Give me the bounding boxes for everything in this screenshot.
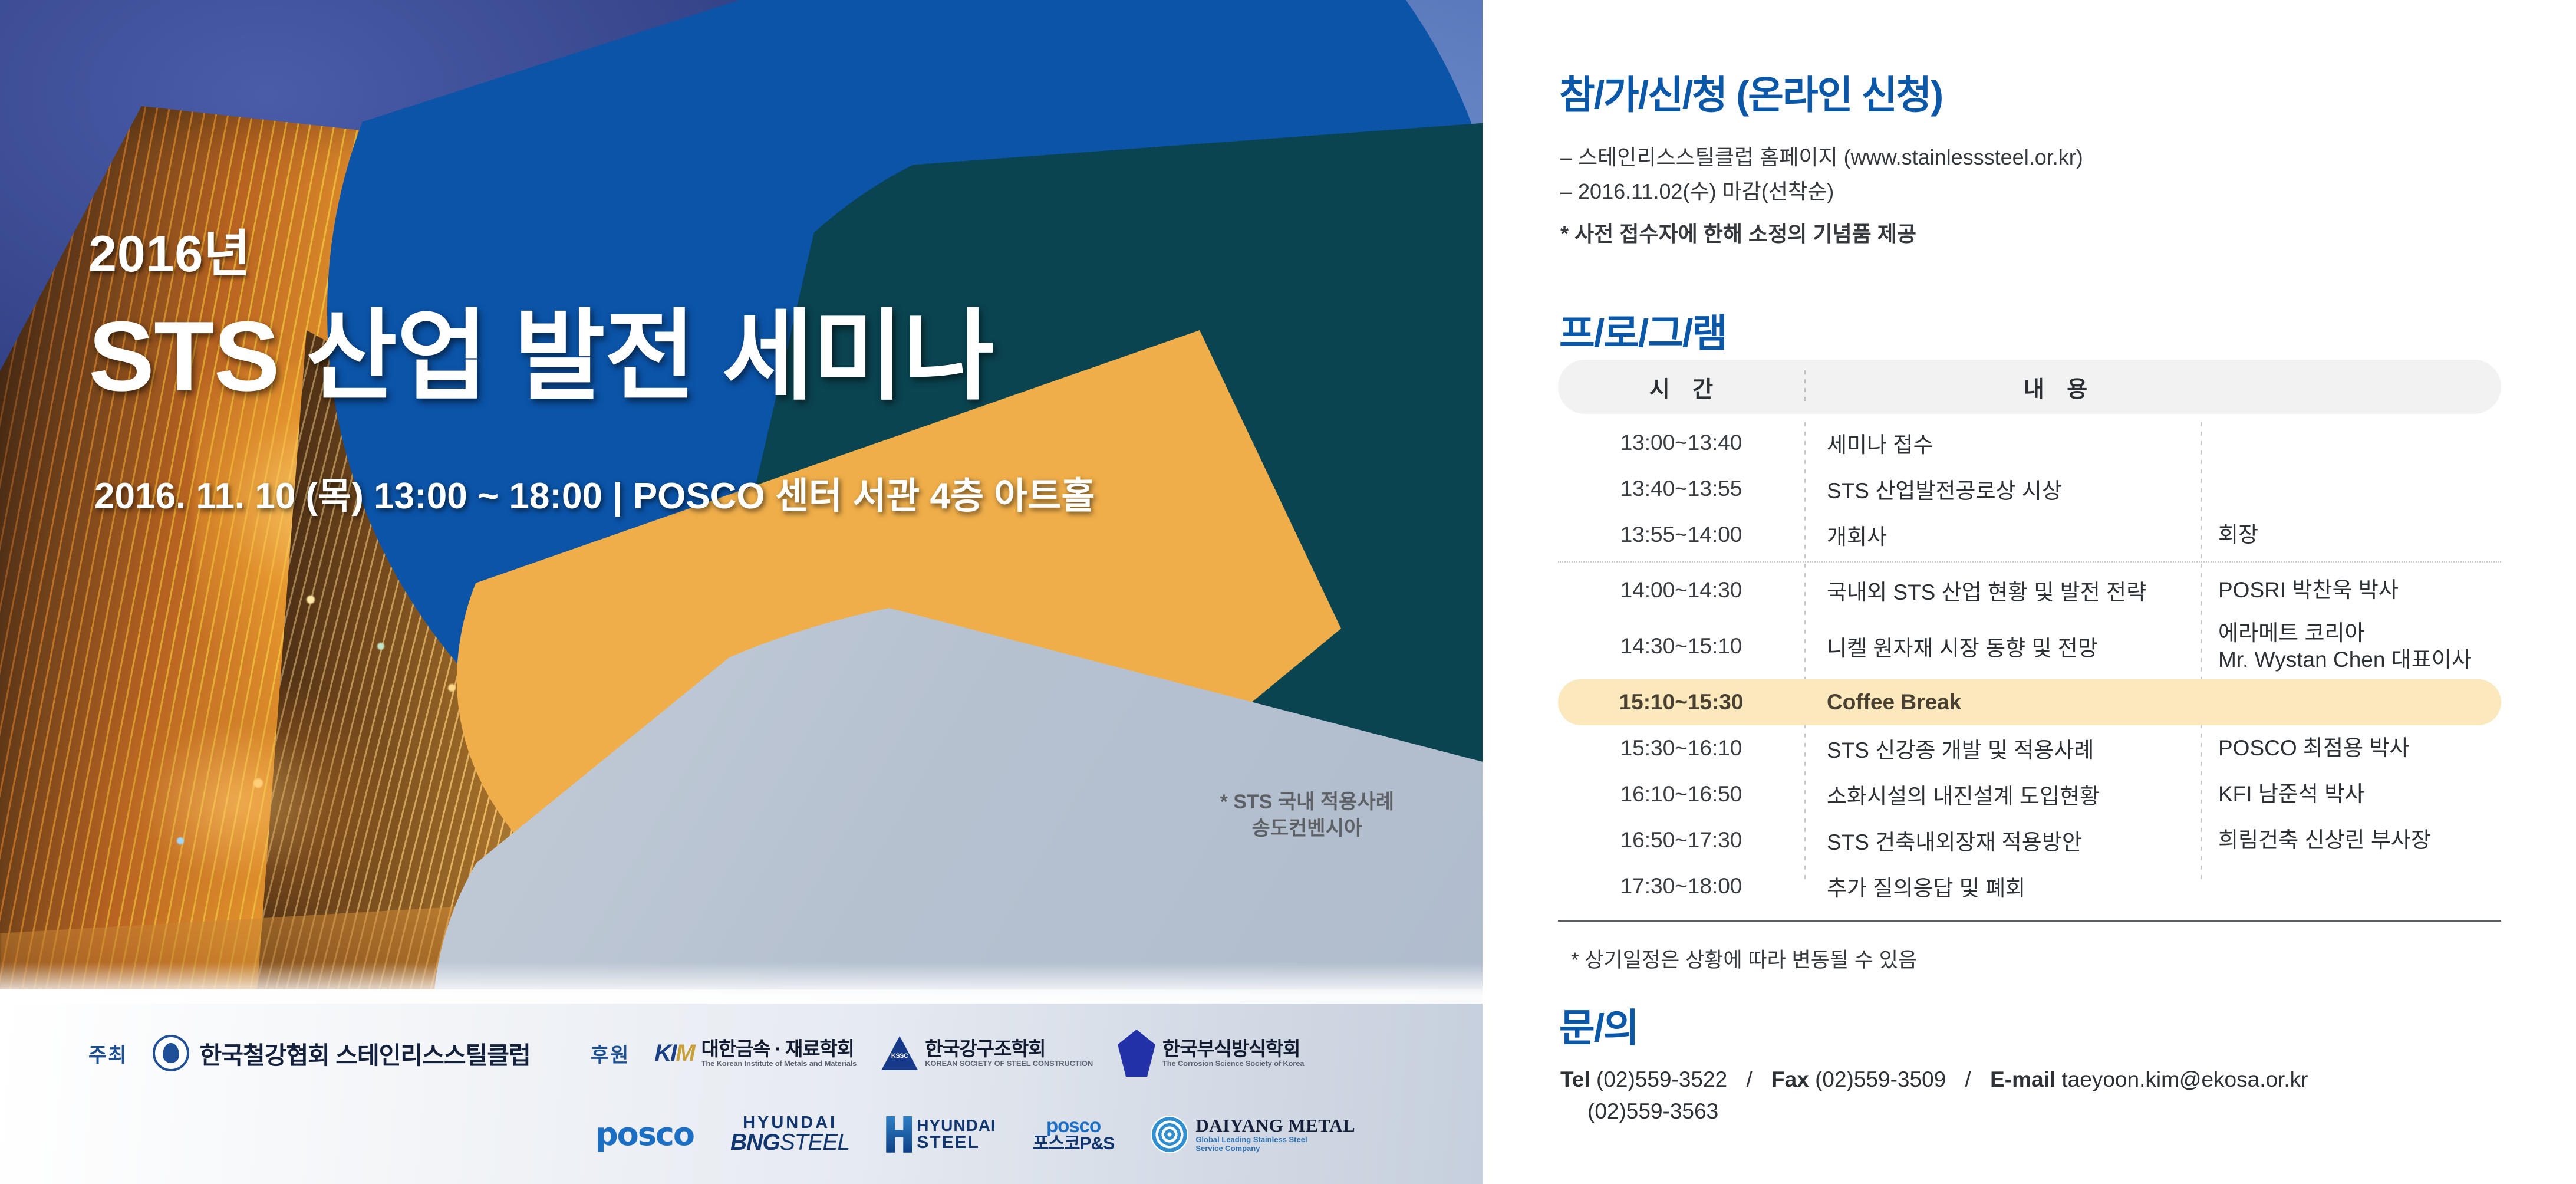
row-content: STS 건축내외장재 적용방안 bbox=[1804, 824, 2199, 856]
logo-hyundai-bng-steel: HYUNDAI BNGSTEEL bbox=[730, 1115, 849, 1153]
posco-pns-line1: posco bbox=[1046, 1116, 1101, 1136]
host-and-societies-row: 주최 한국철강협회 스테인리스스틸클럽 후원 KIM 대한금속 · 재료학회 T… bbox=[88, 1030, 1304, 1077]
apply-heading: 참/가/신/청 (온라인 신청) bbox=[1559, 64, 1942, 120]
table-row: 15:30~16:10 STS 신강종 개발 및 적용사례 POSCO 최점용 … bbox=[1558, 725, 2501, 771]
kosa-seal-icon bbox=[153, 1035, 189, 1071]
fax-label: Fax bbox=[1771, 1067, 1809, 1091]
contact-line-2: (02)559-3563 bbox=[1560, 1099, 2308, 1124]
host-organization: 한국철강협회 스테인리스스틸클럽 bbox=[153, 1035, 531, 1071]
corporate-sponsors-row: posco HYUNDAI BNGSTEEL HYUNDAI STEEL pos… bbox=[595, 1115, 1355, 1153]
contact-block: Tel (02)559-3522 / Fax (02)559-3509 / E-… bbox=[1560, 1067, 2308, 1124]
row-time: 15:30~16:10 bbox=[1558, 736, 1804, 761]
tel-value: (02)559-3522 bbox=[1596, 1067, 1727, 1091]
contact-line-1: Tel (02)559-3522 / Fax (02)559-3509 / E-… bbox=[1560, 1067, 2308, 1092]
details-panel: 참/가/신/청 (온라인 신청) – 스테인리스스틸클럽 홈페이지 (www.s… bbox=[1483, 0, 2576, 1184]
photo-caption: * STS 국내 적용사례 송도컨벤시아 bbox=[1220, 789, 1394, 842]
window-light bbox=[377, 643, 384, 650]
row-time: 14:00~14:30 bbox=[1558, 578, 1804, 603]
society-kssc-name-en: KOREAN SOCIETY OF STEEL CONSTRUCTION bbox=[925, 1060, 1093, 1068]
photo-caption-line-2: 송도컨벤시아 bbox=[1220, 815, 1394, 842]
program-heading: 프/로/그/램 bbox=[1559, 302, 1727, 359]
society-kim-name-en: The Korean Institute of Metals and Mater… bbox=[701, 1060, 857, 1068]
daiyang-target-icon bbox=[1151, 1116, 1188, 1153]
table-row: 16:10~16:50 소화시설의 내진설계 도입현황 KFI 남준석 박사 bbox=[1558, 771, 2501, 817]
logo-daiyang-metal: DAIYANG METAL Global Leading Stainless S… bbox=[1151, 1116, 1355, 1153]
program-footnote: * 상기일정은 상황에 따라 변동될 수 있음 bbox=[1571, 943, 1917, 973]
window-light bbox=[448, 684, 456, 692]
hyundai-steel-line2: STEEL bbox=[917, 1134, 996, 1152]
window-light bbox=[177, 837, 184, 844]
cssk-logo-icon bbox=[1118, 1030, 1155, 1077]
table-row: 16:50~17:30 STS 건축내외장재 적용방안 희림건축 신상린 부사장 bbox=[1558, 817, 2501, 863]
window-light bbox=[307, 596, 315, 604]
plaza-glow bbox=[83, 678, 389, 926]
kssc-logo-icon bbox=[881, 1036, 918, 1070]
row-content: STS 신강종 개발 및 적용사례 bbox=[1804, 732, 2199, 764]
program-table-header: 시 간 내 용 bbox=[1558, 360, 2501, 414]
table-row: 13:00~13:40 세미나 접수 bbox=[1558, 420, 2501, 466]
row-content: STS 산업발전공로상 시상 bbox=[1804, 473, 2199, 505]
row-time: 13:40~13:55 bbox=[1558, 476, 1804, 501]
logo-posco-pns: posco 포스코P&S bbox=[1033, 1116, 1115, 1153]
bng-steel-text: BNGSTEEL bbox=[730, 1132, 849, 1153]
row-speaker: KFI 남준석 박사 bbox=[2199, 781, 2501, 807]
row-time: 16:50~17:30 bbox=[1558, 828, 1804, 853]
society-kim-name-ko: 대한금속 · 재료학회 bbox=[701, 1039, 857, 1060]
row-content: 국내외 STS 산업 현황 및 발전 전략 bbox=[1804, 574, 2199, 606]
year-label: 2016년 bbox=[88, 212, 251, 286]
row-time: 15:10~15:30 bbox=[1558, 690, 1804, 715]
society-kssc: 한국강구조학회 KOREAN SOCIETY OF STEEL CONSTRUC… bbox=[881, 1036, 1093, 1070]
contact-separator-2: / bbox=[1952, 1067, 1984, 1091]
row-content: Coffee Break bbox=[1804, 690, 2199, 715]
row-speaker: POSCO 최점용 박사 bbox=[2199, 735, 2501, 761]
row-time: 17:30~18:00 bbox=[1558, 874, 1804, 899]
row-time: 14:30~15:10 bbox=[1558, 634, 1804, 659]
row-content: 세미나 접수 bbox=[1804, 427, 2199, 459]
column-header-content: 내 용 bbox=[1804, 371, 2501, 403]
posco-wordmark: posco bbox=[595, 1116, 694, 1153]
email-value[interactable]: taeyoon.kim@ekosa.or.kr bbox=[2061, 1067, 2308, 1091]
society-cssk: 한국부식방식학회 The Corrosion Science Society o… bbox=[1118, 1030, 1304, 1077]
row-time: 13:55~14:00 bbox=[1558, 522, 1804, 547]
row-content: 개회사 bbox=[1804, 519, 2199, 551]
logo-hyundai-steel: HYUNDAI STEEL bbox=[886, 1116, 996, 1153]
society-cssk-name-ko: 한국부식방식학회 bbox=[1162, 1039, 1304, 1060]
program-table: 시 간 내 용 13:00~13:40 세미나 접수 13:40~13:55 S… bbox=[1558, 360, 2501, 922]
host-label: 주최 bbox=[88, 1039, 128, 1068]
program-table-body: 13:00~13:40 세미나 접수 13:40~13:55 STS 산업발전공… bbox=[1558, 420, 2501, 909]
poster-title: STS 산업 발전 세미나 bbox=[88, 276, 994, 419]
row-speaker: POSRI 박찬욱 박사 bbox=[2199, 577, 2501, 603]
apply-bullet-website: – 스테인리스스틸클럽 홈페이지 (www.stainlesssteel.or.… bbox=[1560, 140, 2083, 175]
society-kssc-name-ko: 한국강구조학회 bbox=[925, 1039, 1093, 1060]
hyundai-steel-line1: HYUNDAI bbox=[917, 1117, 996, 1134]
row-content: 추가 질의응답 및 폐회 bbox=[1804, 870, 2199, 902]
datetime-venue: 2016. 11. 10 (목) 13:00 ~ 18:00 | POSCO 센… bbox=[94, 466, 1095, 519]
fax-value: (02)559-3509 bbox=[1815, 1067, 1946, 1091]
table-row: 17:30~18:00 추가 질의응답 및 폐회 bbox=[1558, 863, 2501, 909]
section-divider bbox=[1558, 561, 2501, 563]
row-content: 소화시설의 내진설계 도입현황 bbox=[1804, 778, 2199, 810]
table-row: 14:30~15:10 니켈 원자재 시장 동향 및 전망 에라메트 코리아 M… bbox=[1558, 613, 2501, 679]
row-speaker: 회장 bbox=[2199, 521, 2501, 548]
window-light bbox=[253, 778, 263, 788]
apply-bullets: – 스테인리스스틸클럽 홈페이지 (www.stainlesssteel.or.… bbox=[1560, 140, 2083, 209]
table-row: 14:00~14:30 국내외 STS 산업 현황 및 발전 전략 POSRI … bbox=[1558, 567, 2501, 613]
contact-separator-1: / bbox=[1733, 1067, 1765, 1091]
contact-heading: 문/의 bbox=[1559, 996, 1638, 1053]
kim-logo-icon: KIM bbox=[654, 1040, 694, 1067]
row-time: 13:00~13:40 bbox=[1558, 430, 1804, 455]
table-row: 13:40~13:55 STS 산업발전공로상 시상 bbox=[1558, 466, 2501, 512]
society-cssk-name-en: The Corrosion Science Society of Korea bbox=[1162, 1060, 1304, 1068]
email-label: E-mail bbox=[1990, 1067, 2055, 1091]
row-speaker: 에라메트 코리아 Mr. Wystan Chen 대표이사 bbox=[2199, 620, 2501, 673]
society-kim: KIM 대한금속 · 재료학회 The Korean Institute of … bbox=[654, 1039, 857, 1067]
daiyang-tagline-1: Global Leading Stainless Steel bbox=[1195, 1136, 1355, 1144]
photo-caption-line-1: * STS 국내 적용사례 bbox=[1220, 789, 1394, 815]
column-header-time: 시 간 bbox=[1558, 371, 1804, 403]
table-row-coffee-break: 15:10~15:30 Coffee Break bbox=[1558, 679, 2501, 725]
host-organization-name: 한국철강협회 스테인리스스틸클럽 bbox=[200, 1035, 531, 1071]
row-time: 16:10~16:50 bbox=[1558, 782, 1804, 807]
table-bottom-rule bbox=[1558, 920, 2501, 922]
tel-label: Tel bbox=[1560, 1067, 1590, 1091]
hero-panel: 2016년 STS 산업 발전 세미나 2016. 11. 10 (목) 13:… bbox=[0, 0, 1483, 1184]
row-content: 니켈 원자재 시장 동향 및 전망 bbox=[1804, 630, 2199, 662]
support-label: 후원 bbox=[591, 1039, 630, 1068]
table-row: 13:55~14:00 개회사 회장 bbox=[1558, 512, 2501, 558]
seminar-poster: 2016년 STS 산업 발전 세미나 2016. 11. 10 (목) 13:… bbox=[0, 0, 2576, 1184]
header-column-divider bbox=[1804, 370, 1806, 403]
apply-note: * 사전 접수자에 한해 소정의 기념품 제공 bbox=[1560, 217, 1916, 248]
row-speaker: 희림건축 신상린 부사장 bbox=[2199, 827, 2501, 853]
hyundai-h-icon bbox=[886, 1116, 912, 1153]
posco-pns-line2: 포스코P&S bbox=[1033, 1135, 1115, 1153]
daiyang-name: DAIYANG METAL bbox=[1195, 1116, 1355, 1136]
bng-hyundai-text: HYUNDAI bbox=[743, 1115, 837, 1132]
apply-bullet-deadline: – 2016.11.02(수) 마감(선착순) bbox=[1560, 175, 2083, 209]
daiyang-tagline-2: Service Company bbox=[1195, 1144, 1355, 1153]
logo-posco: posco bbox=[595, 1116, 694, 1153]
